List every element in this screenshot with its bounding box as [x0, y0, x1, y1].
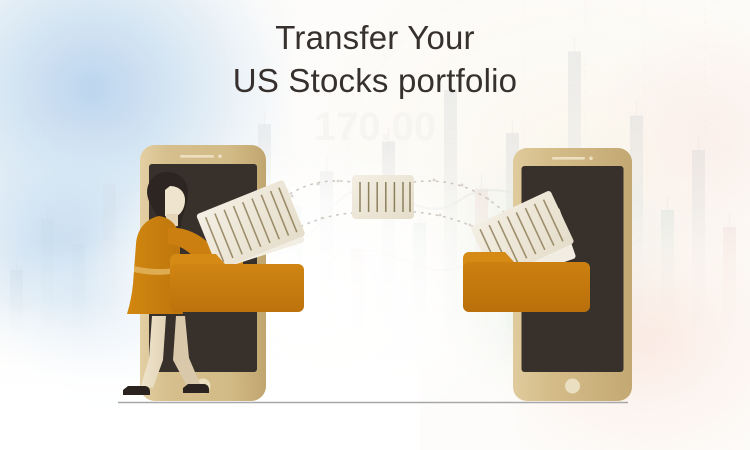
page-title: Transfer Your US Stocks portfolio	[0, 16, 750, 102]
upper-arc-right	[414, 181, 506, 214]
destination-phone-camera-icon	[589, 157, 593, 161]
banner-image: 170.00 Transfer Your US Stocks portfolio	[0, 0, 750, 450]
person-back-shoe	[183, 384, 209, 393]
source-folder-front	[170, 264, 304, 312]
destination-folder-front	[463, 262, 590, 312]
transferring-document	[352, 175, 414, 219]
headline-line-2: US Stocks portfolio	[0, 59, 750, 102]
headline-line-1: Transfer Your	[0, 16, 750, 59]
transferring-document-body	[352, 175, 414, 219]
destination-phone-home-button[interactable]	[565, 379, 580, 394]
person-front-shoe	[123, 386, 150, 395]
source-phone-camera-icon	[218, 155, 222, 159]
source-phone-speaker-icon	[180, 155, 214, 158]
destination-phone-speaker-icon	[552, 157, 585, 160]
